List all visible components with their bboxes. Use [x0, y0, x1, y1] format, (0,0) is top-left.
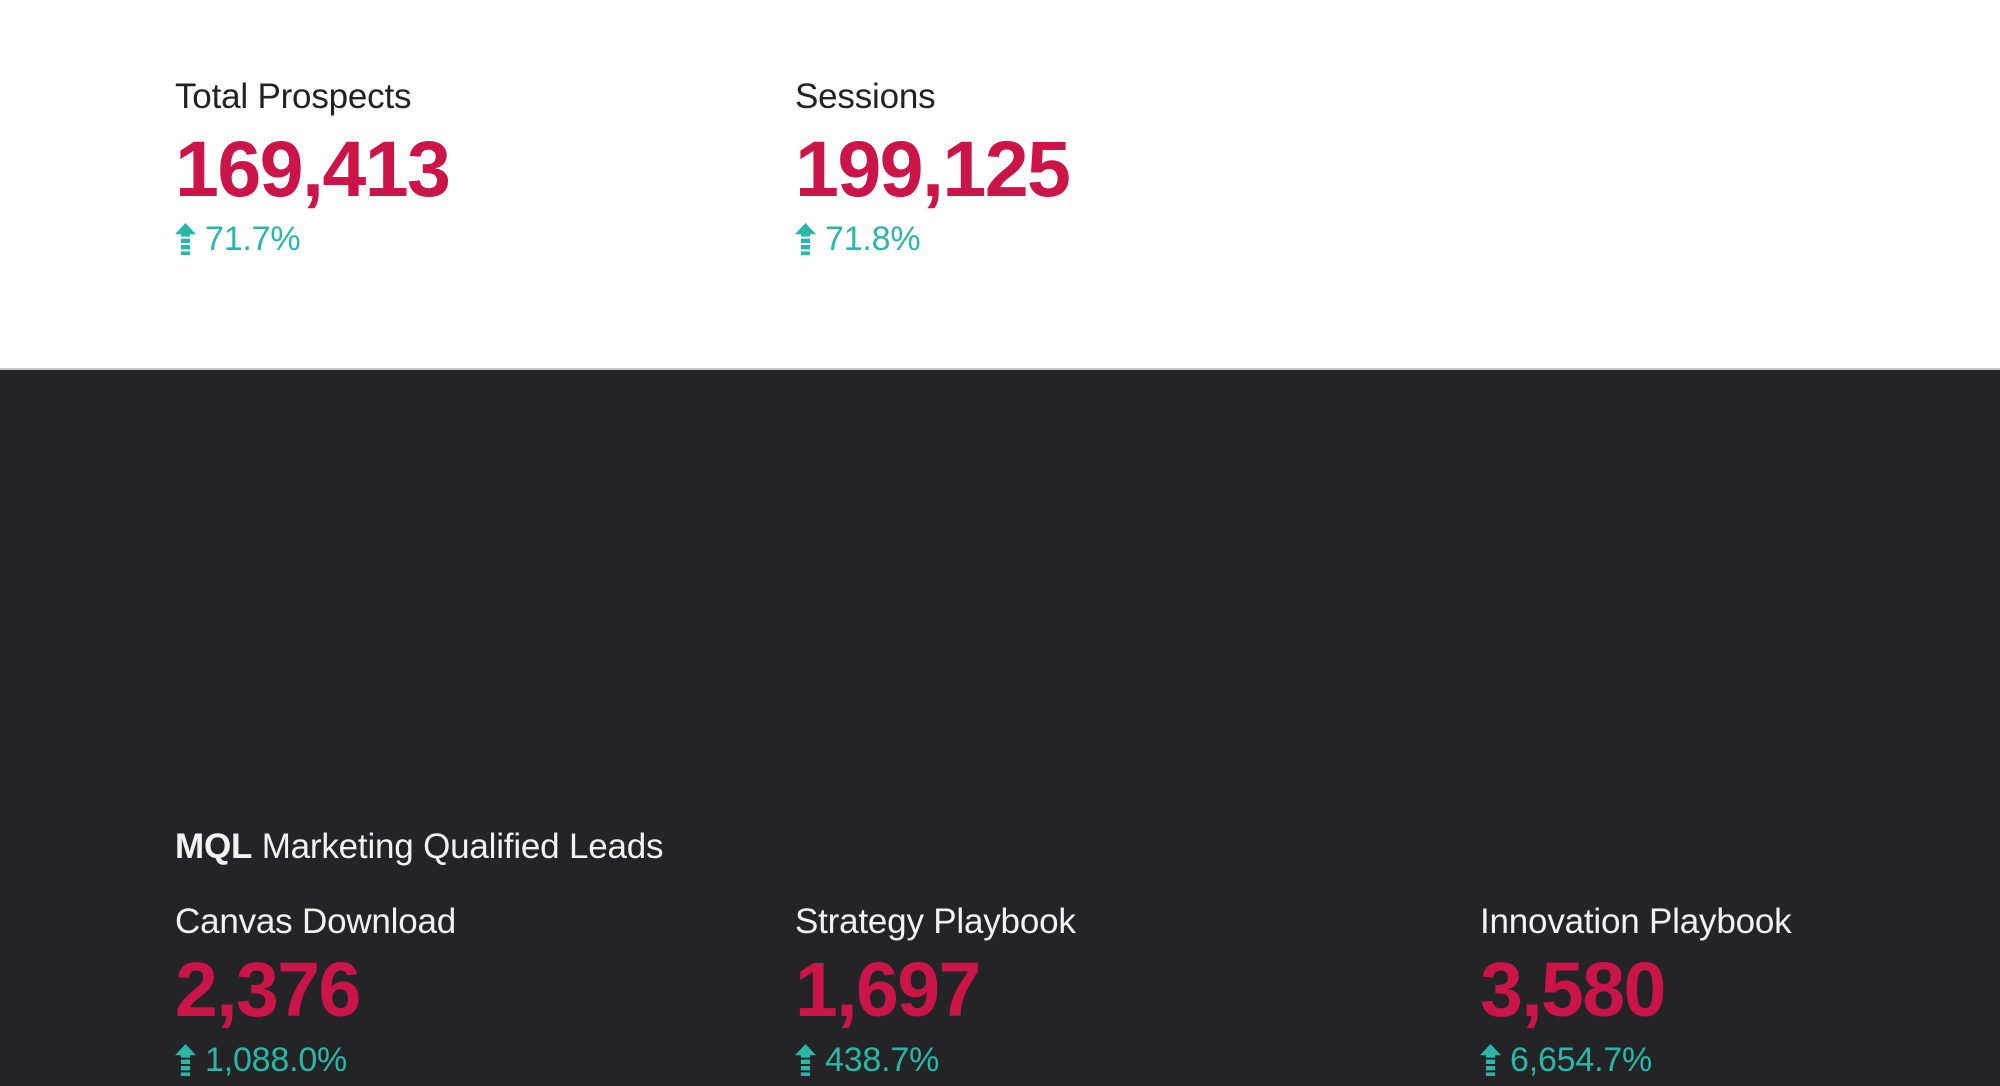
kpi-empty-slot [1480, 78, 1965, 256]
kpi-label: Innovation Playbook [1480, 903, 1965, 941]
kpi-value: 1,697 [795, 952, 1480, 1029]
kpi-label: Canvas Download [175, 903, 795, 941]
kpi-delta-value: 1,088.0% [205, 1043, 347, 1077]
mql-kpi-row-1: Canvas Download 2,376 1,088.0% St [175, 903, 1965, 1077]
kpi-delta: 438.7% [795, 1043, 1480, 1077]
kpi-label: Sessions [795, 78, 1480, 116]
dashboard-page: Total Prospects 169,413 71.7% Ses [0, 0, 2000, 1086]
mql-section-heading: MQL Marketing Qualified Leads [175, 828, 663, 867]
kpi-delta-value: 71.8% [825, 222, 920, 256]
kpi-canvas-download[interactable]: Canvas Download 2,376 1,088.0% [175, 903, 795, 1077]
kpi-label: Total Prospects [175, 78, 795, 116]
kpi-value: 199,125 [795, 129, 1480, 208]
kpi-delta-value: 6,654.7% [1510, 1043, 1652, 1077]
arrow-up-icon [175, 1044, 196, 1076]
kpi-delta-value: 438.7% [825, 1043, 939, 1077]
arrow-up-icon [1480, 1044, 1501, 1076]
kpi-innovation-playbook[interactable]: Innovation Playbook 3,580 6,654.7% [1480, 903, 1965, 1077]
kpi-value: 2,376 [175, 952, 795, 1029]
kpi-delta-value: 71.7% [205, 222, 300, 256]
kpi-delta: 1,088.0% [175, 1043, 795, 1077]
kpi-value: 3,580 [1480, 952, 1965, 1029]
kpi-strategy-playbook[interactable]: Strategy Playbook 1,697 438.7% [795, 903, 1480, 1077]
kpi-label: Strategy Playbook [795, 903, 1480, 941]
kpi-delta: 71.7% [175, 222, 795, 256]
arrow-up-icon [795, 223, 816, 255]
mql-heading-full: Marketing Qualified Leads [252, 827, 663, 866]
mql-panel: MQL Marketing Qualified Leads Canvas Dow… [0, 370, 2000, 1086]
overview-kpi-row: Total Prospects 169,413 71.7% Ses [175, 78, 1965, 256]
arrow-up-icon [795, 1044, 816, 1076]
kpi-delta: 71.8% [795, 222, 1480, 256]
kpi-delta: 6,654.7% [1480, 1043, 1965, 1077]
mql-heading-abbr: MQL [175, 827, 252, 866]
kpi-value: 169,413 [175, 129, 795, 208]
kpi-sessions[interactable]: Sessions 199,125 71.8% [795, 78, 1480, 256]
kpi-total-prospects[interactable]: Total Prospects 169,413 71.7% [175, 78, 795, 256]
arrow-up-icon [175, 223, 196, 255]
overview-panel: Total Prospects 169,413 71.7% Ses [0, 0, 2000, 370]
